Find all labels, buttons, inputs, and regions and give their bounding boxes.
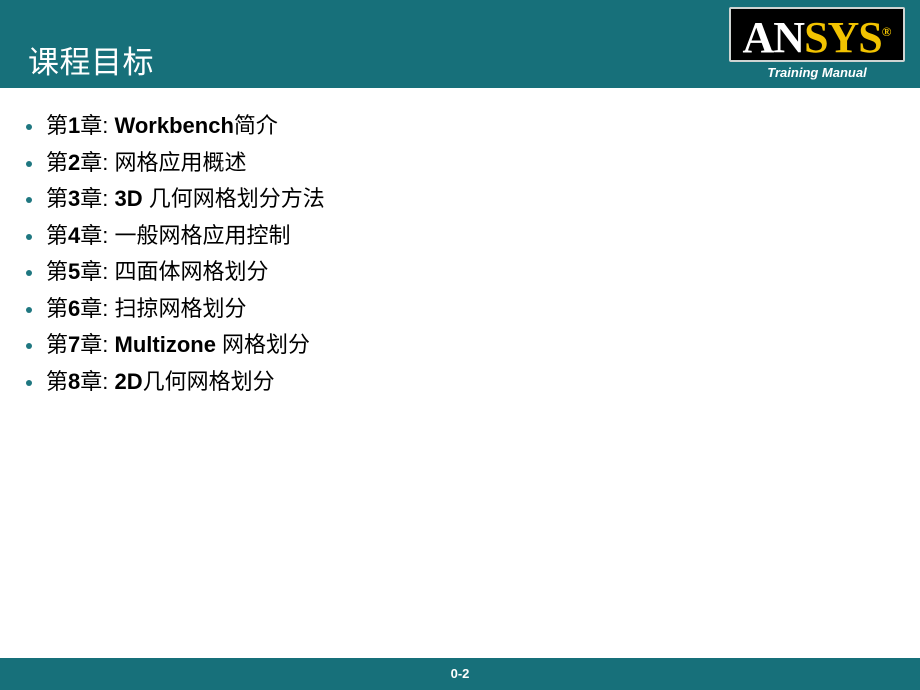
registered-trademark-icon: ® [882,24,892,39]
list-item: 第6章: 扫掠网格划分 [22,291,882,328]
bullet-dot-icon [26,161,32,167]
ansys-logo-icon: ANSYS® [729,7,905,62]
slide-body: 第1章: Workbench简介第2章: 网格应用概述第3章: 3D 几何网格划… [0,88,920,658]
objective-list: 第1章: Workbench简介第2章: 网格应用概述第3章: 3D 几何网格划… [22,108,882,400]
training-manual-caption: Training Manual [729,64,905,82]
list-item-label: 第2章: 网格应用概述 [46,150,247,175]
bullet-dot-icon [26,234,32,240]
list-item: 第7章: Multizone 网格划分 [22,327,882,364]
page-title: 课程目标 [28,44,154,82]
bullet-dot-icon [26,380,32,386]
presentation-slide: 课程目标 ANSYS® Training Manual 第1章: Workben… [0,0,920,690]
bullet-dot-icon [26,197,32,203]
list-item-label: 第7章: Multizone 网格划分 [46,332,310,357]
list-item-label: 第6章: 扫掠网格划分 [46,296,247,321]
logo-text-an: AN [743,13,805,62]
list-item: 第5章: 四面体网格划分 [22,254,882,291]
bullet-dot-icon [26,307,32,313]
list-item-label: 第3章: 3D 几何网格划分方法 [46,186,325,211]
list-item-label: 第5章: 四面体网格划分 [46,259,269,284]
page-number: 0-2 [0,658,920,690]
logo-text-sys: SYS [804,13,882,62]
ansys-logo-block: ANSYS® Training Manual [729,7,907,88]
list-item-label: 第1章: Workbench简介 [46,113,278,138]
ansys-wordmark: ANSYS® [731,9,903,61]
bullet-dot-icon [26,124,32,130]
list-item: 第4章: 一般网格应用控制 [22,218,882,255]
list-item-label: 第8章: 2D几何网格划分 [46,369,275,394]
bullet-dot-icon [26,270,32,276]
list-item-label: 第4章: 一般网格应用控制 [46,223,291,248]
list-item: 第8章: 2D几何网格划分 [22,364,882,401]
slide-footer-band: 0-2 [0,658,920,690]
bullet-dot-icon [26,343,32,349]
list-item: 第2章: 网格应用概述 [22,145,882,182]
list-item: 第1章: Workbench简介 [22,108,882,145]
list-item: 第3章: 3D 几何网格划分方法 [22,181,882,218]
slide-header-band: 课程目标 ANSYS® Training Manual [0,0,920,88]
